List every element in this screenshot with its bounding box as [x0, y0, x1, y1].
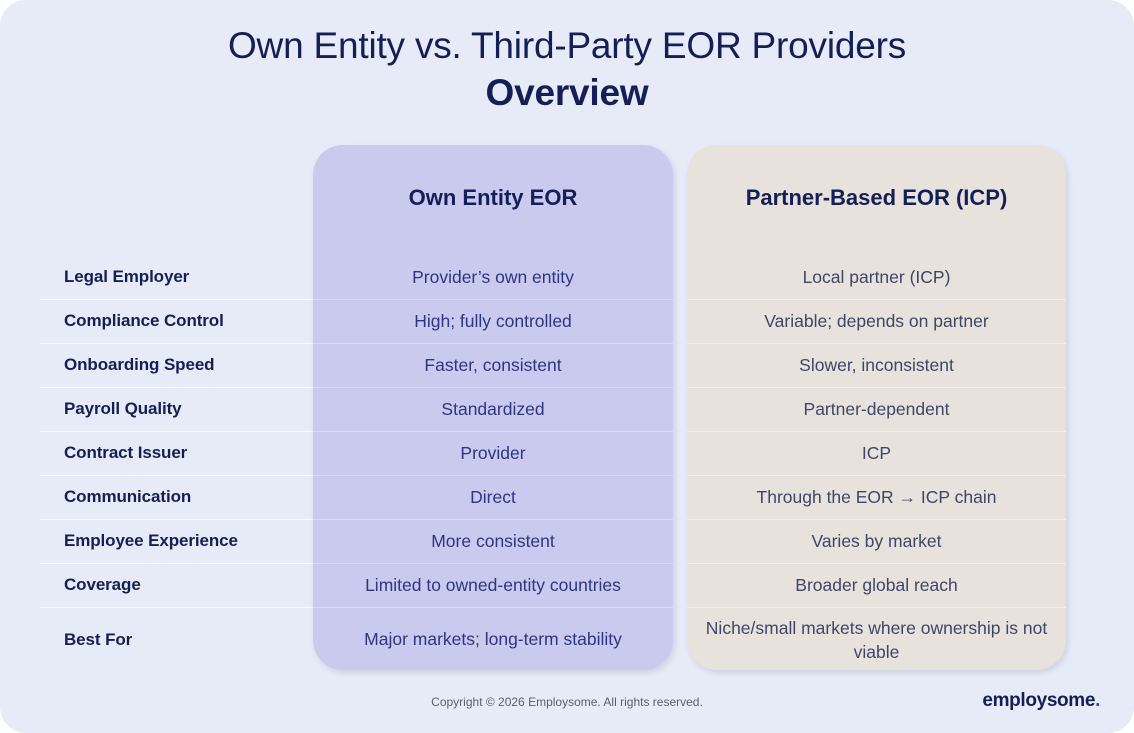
logo-wordmark: employsome — [982, 690, 1095, 711]
column-header-own-entity: Own Entity EOR — [313, 183, 673, 213]
table-row: Onboarding Speed Faster, consistent Slow… — [0, 343, 1134, 387]
cell-own-entity: Direct — [313, 475, 673, 519]
table-row: Employee Experience More consistent Vari… — [0, 519, 1134, 563]
logo-dot: . — [1095, 690, 1100, 711]
row-label: Payroll Quality — [64, 387, 314, 431]
table-body: Legal Employer Provider’s own entity Loc… — [0, 255, 1134, 672]
cell-partner-based: Niche/small markets where ownership is n… — [687, 607, 1066, 672]
row-label: Legal Employer — [64, 255, 314, 299]
cell-partner-based: Varies by market — [687, 519, 1066, 563]
copyright-notice: Copyright © 2026 Employsome. All rights … — [0, 694, 1134, 710]
row-label: Communication — [64, 475, 314, 519]
table-row: Legal Employer Provider’s own entity Loc… — [0, 255, 1134, 299]
cell-partner-based: ICP — [687, 431, 1066, 475]
table-row: Compliance Control High; fully controlle… — [0, 299, 1134, 343]
cell-own-entity: Faster, consistent — [313, 343, 673, 387]
cell-own-entity: More consistent — [313, 519, 673, 563]
cell-own-entity: Provider — [313, 431, 673, 475]
title-line-2: Overview — [0, 69, 1134, 116]
row-label: Onboarding Speed — [64, 343, 314, 387]
table-row: Best For Major markets; long-term stabil… — [0, 607, 1134, 672]
cell-own-entity: Provider’s own entity — [313, 255, 673, 299]
column-header-partner-based: Partner-Based EOR (ICP) — [687, 183, 1066, 213]
cell-own-entity: High; fully controlled — [313, 299, 673, 343]
employsome-logo: employsome. — [982, 689, 1100, 713]
row-label: Employee Experience — [64, 519, 314, 563]
cell-partner-based: Partner-dependent — [687, 387, 1066, 431]
cell-own-entity: Standardized — [313, 387, 673, 431]
comparison-table: Own Entity EOR Partner-Based EOR (ICP) L… — [0, 145, 1134, 672]
table-header-row: Own Entity EOR Partner-Based EOR (ICP) — [0, 145, 1134, 255]
infographic-page: Own Entity vs. Third-Party EOR Providers… — [0, 0, 1134, 733]
table-row: Communication Direct Through the EOR → I… — [0, 475, 1134, 519]
cell-own-entity: Limited to owned-entity countries — [313, 563, 673, 607]
table-row: Contract Issuer Provider ICP — [0, 431, 1134, 475]
row-label: Coverage — [64, 563, 314, 607]
title-line-1: Own Entity vs. Third-Party EOR Providers — [0, 22, 1134, 69]
cell-partner-based: Slower, inconsistent — [687, 343, 1066, 387]
cell-own-entity: Major markets; long-term stability — [313, 607, 673, 672]
row-label: Compliance Control — [64, 299, 314, 343]
cell-partner-based: Variable; depends on partner — [687, 299, 1066, 343]
table-row: Payroll Quality Standardized Partner-dep… — [0, 387, 1134, 431]
row-label: Best For — [64, 607, 314, 672]
row-label: Contract Issuer — [64, 431, 314, 475]
table-row: Coverage Limited to owned-entity countri… — [0, 563, 1134, 607]
cell-partner-based: Broader global reach — [687, 563, 1066, 607]
cell-partner-based: Local partner (ICP) — [687, 255, 1066, 299]
cell-partner-based: Through the EOR → ICP chain — [687, 475, 1066, 519]
page-title: Own Entity vs. Third-Party EOR Providers… — [0, 22, 1134, 116]
